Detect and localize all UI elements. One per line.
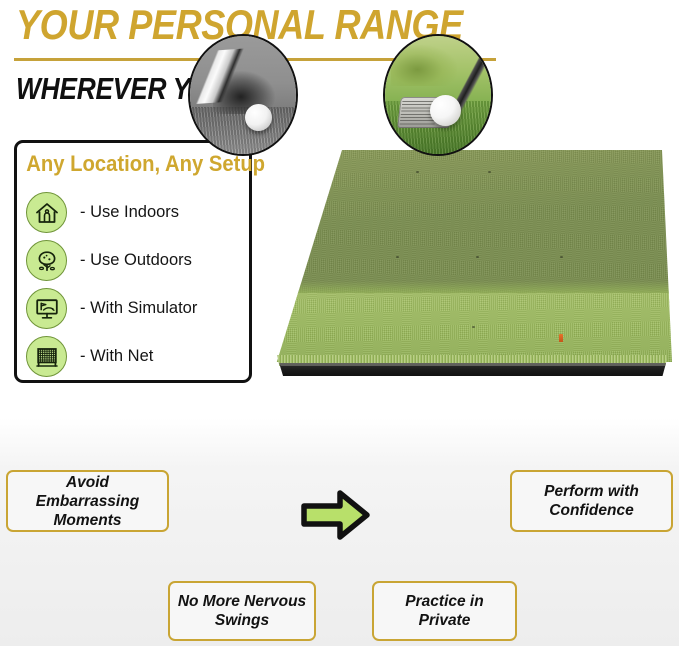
golf-ball-icon [430, 95, 461, 126]
callout-no-more-nervous-swings: No More Nervous Swings [168, 581, 316, 641]
simulator-screen-icon [26, 288, 67, 329]
infographic-page: YOUR PERSONAL RANGE WHEREVER YOU ARE Any… [0, 0, 679, 646]
mat-surface [272, 150, 672, 362]
golf-hitting-mat-image [272, 150, 672, 395]
after-photo [383, 34, 493, 156]
grass-spray [391, 45, 457, 85]
feature-item-label: - Use Outdoors [80, 251, 192, 270]
rubber-tee-icon [559, 334, 563, 342]
tree-icon [26, 240, 67, 281]
callout-avoid-embarrassing-moments: Avoid Embarrassing Moments [6, 470, 169, 532]
mat-body [272, 150, 672, 395]
arrow-right-icon [300, 486, 372, 544]
feature-item-label: - With Net [80, 347, 153, 366]
rough-turf-zone [272, 293, 672, 364]
fairway-turf-zone [272, 150, 672, 294]
feature-item-net: - With Net [26, 333, 245, 380]
house-icon [26, 192, 67, 233]
gray-turf [190, 107, 296, 154]
feature-item-simulator: - With Simulator [26, 285, 245, 332]
golf-net-icon [26, 336, 67, 377]
feature-list: - Use Indoors - Use Outdoors [26, 189, 245, 381]
feature-box-title: Any Location, Any Setup [26, 151, 239, 177]
feature-item-label: - Use Indoors [80, 203, 179, 222]
feature-item-outdoors: - Use Outdoors [26, 237, 245, 284]
gray-club-icon [188, 47, 264, 104]
before-photo [188, 34, 298, 156]
color-scene [385, 36, 491, 154]
feature-item-label: - With Simulator [80, 299, 197, 318]
feature-box: Any Location, Any Setup - Use Indoors [14, 140, 252, 383]
callout-practice-in-private: Practice in Private [372, 581, 517, 641]
feature-item-indoors: - Use Indoors [26, 189, 245, 236]
mat-base-highlight [276, 363, 668, 366]
grayscale-scene [190, 36, 296, 154]
callout-perform-with-confidence: Perform with Confidence [510, 470, 673, 532]
